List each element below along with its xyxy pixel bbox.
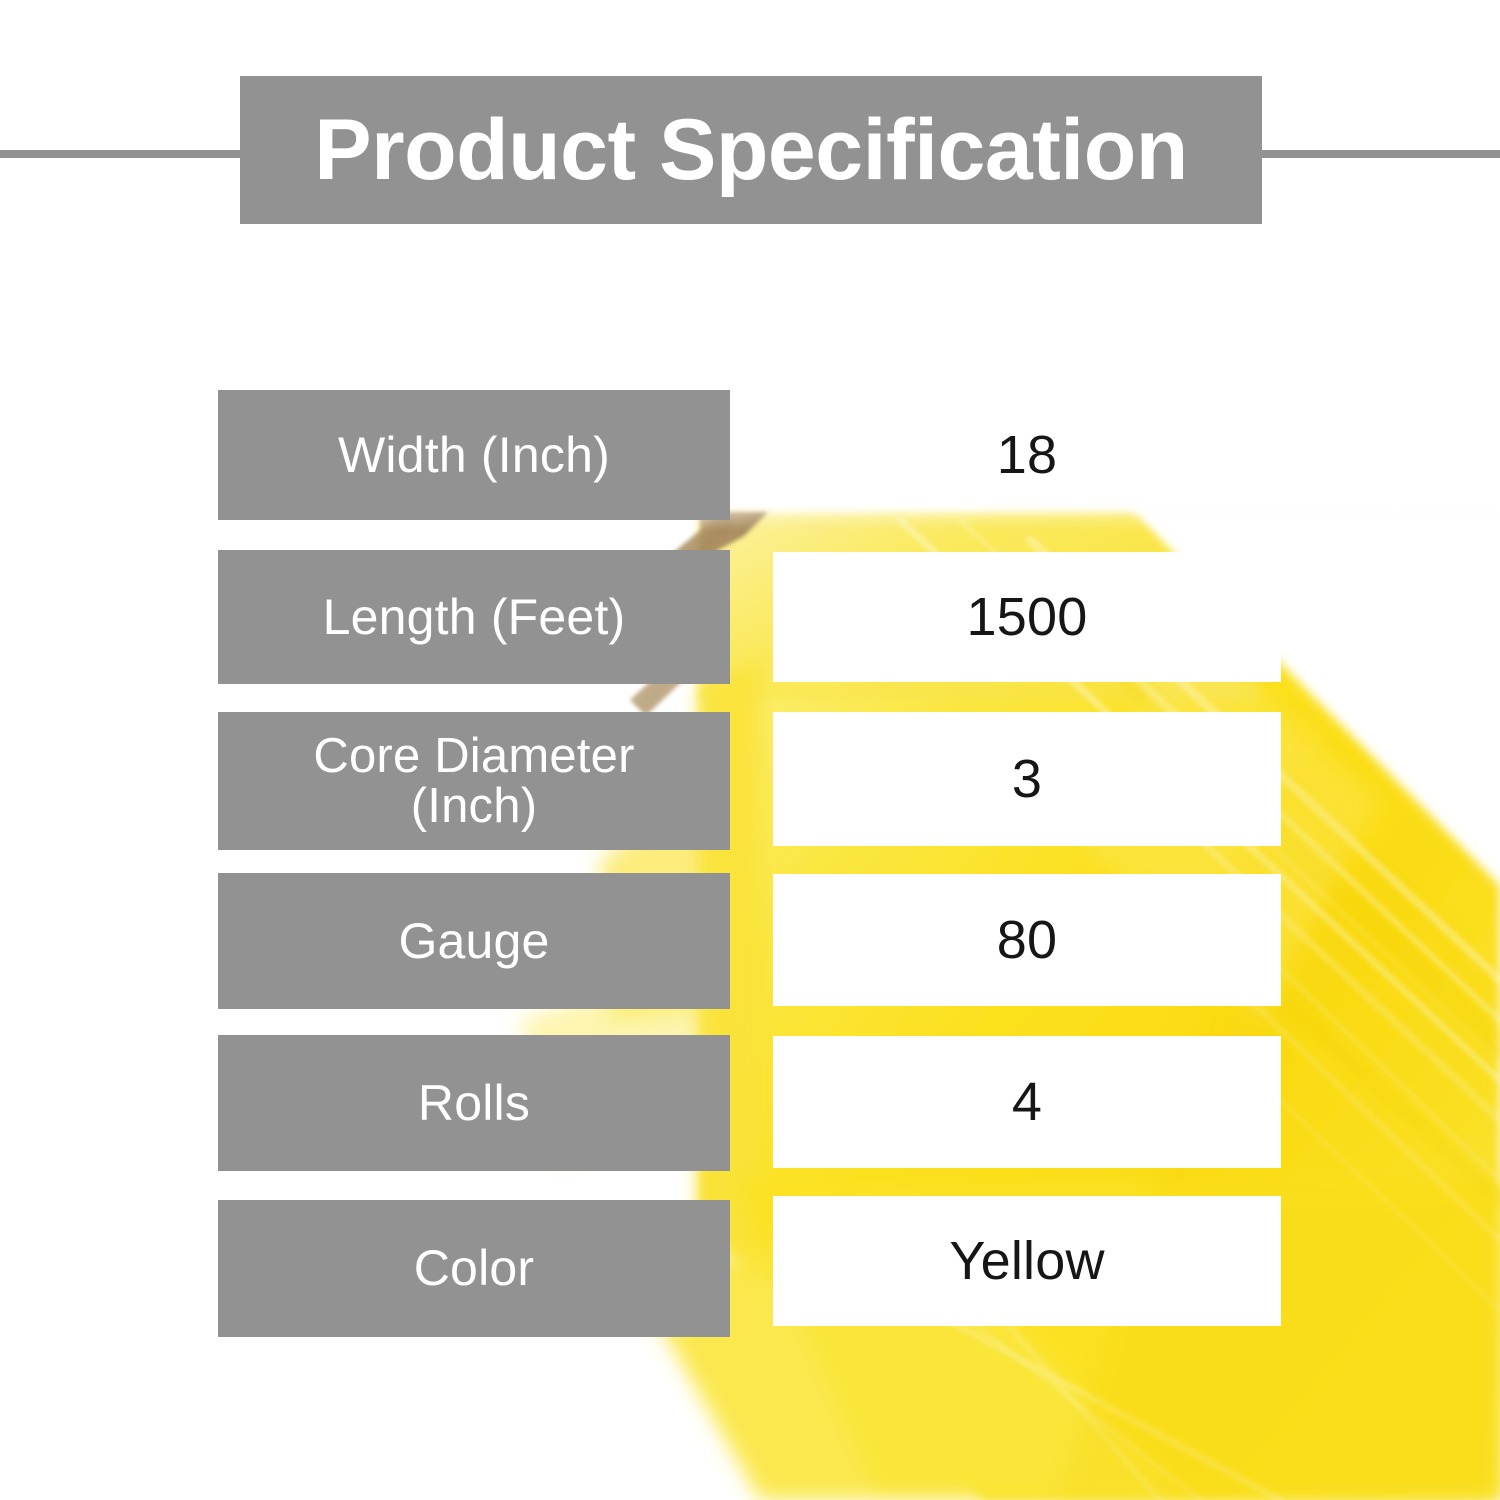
spec-label-rolls: Rolls <box>218 1035 730 1171</box>
spec-value-text: 3 <box>1012 752 1042 806</box>
spec-label-line1: Core Diameter <box>313 729 634 783</box>
spec-label-text: Core Diameter (Inch) <box>313 731 634 832</box>
spec-table: Width (Inch) 18 Length (Feet) 1500 Core … <box>0 0 1500 1500</box>
spec-label-text: Length (Feet) <box>323 592 626 643</box>
spec-value-text: 1500 <box>967 590 1088 644</box>
spec-value-rolls: 4 <box>773 1036 1281 1168</box>
spec-label-text: Rolls <box>418 1078 530 1129</box>
spec-value-text: Yellow <box>949 1234 1104 1288</box>
spec-label-line2: (Inch) <box>411 779 537 833</box>
spec-label-text: Width (Inch) <box>338 430 610 481</box>
spec-label-width: Width (Inch) <box>218 390 730 520</box>
spec-value-text: 80 <box>997 913 1057 967</box>
spec-value-length: 1500 <box>773 552 1281 682</box>
spec-label-length: Length (Feet) <box>218 550 730 684</box>
spec-label-color: Color <box>218 1200 730 1337</box>
spec-label-text: Color <box>414 1243 534 1294</box>
spec-value-text: 4 <box>1012 1075 1042 1129</box>
spec-value-text: 18 <box>997 428 1057 482</box>
spec-value-gauge: 80 <box>773 874 1281 1006</box>
spec-value-color: Yellow <box>773 1196 1281 1326</box>
spec-label-gauge: Gauge <box>218 873 730 1009</box>
spec-value-width: 18 <box>773 390 1281 520</box>
spec-value-core-diameter: 3 <box>773 712 1281 846</box>
infographic-page: Product Specification Width (Inch) 18 Le… <box>0 0 1500 1500</box>
spec-label-text: Gauge <box>398 916 549 967</box>
spec-label-core-diameter: Core Diameter (Inch) <box>218 712 730 850</box>
